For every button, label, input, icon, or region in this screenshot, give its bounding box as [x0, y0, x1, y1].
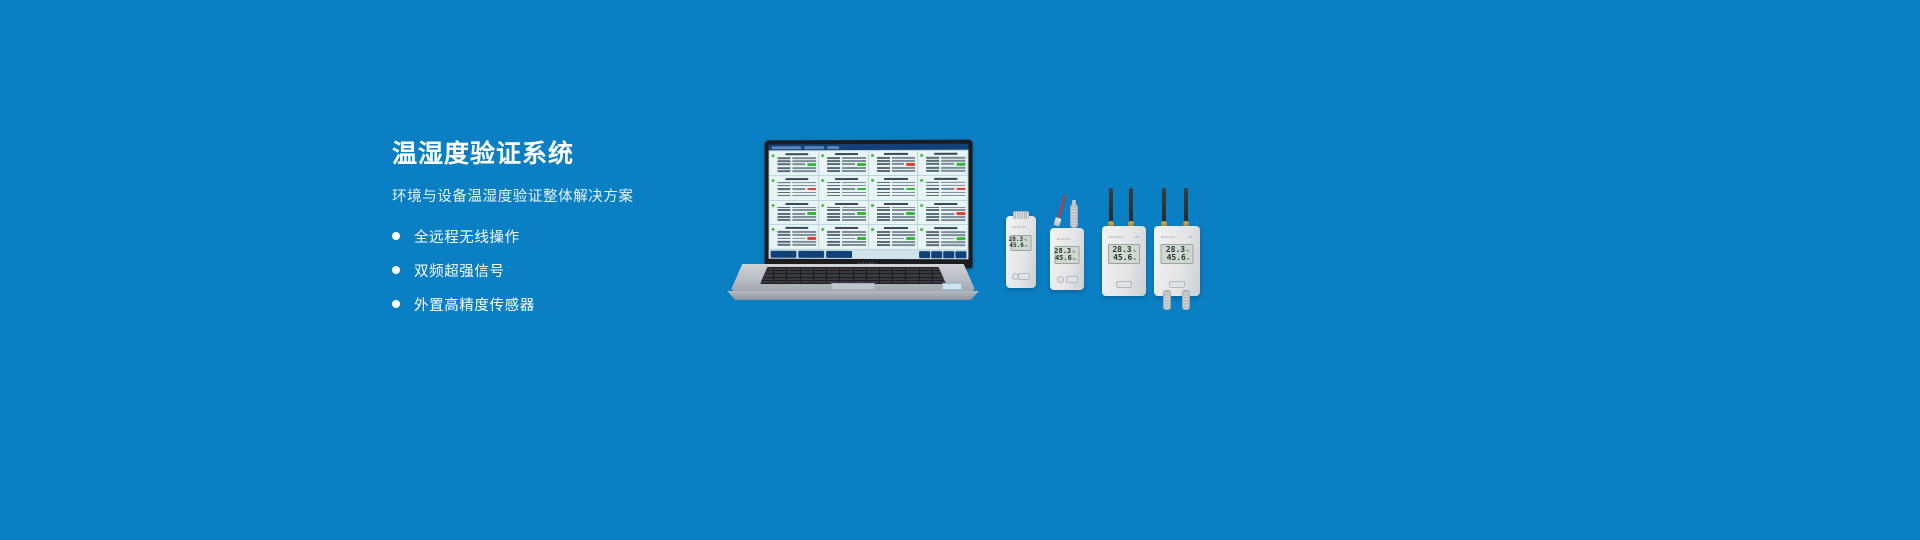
card-title	[884, 202, 907, 204]
lcd-display: 28.3 ℃ 45.6 %	[1161, 244, 1194, 264]
card-row-value	[892, 167, 916, 169]
device-brand-label: ENCOIN	[1109, 235, 1123, 239]
keyboard-key[interactable]	[933, 271, 945, 273]
keyboard-key[interactable]	[933, 268, 945, 270]
sensor-card[interactable]	[819, 201, 868, 225]
card-row-value	[842, 195, 866, 197]
card-row	[926, 160, 965, 162]
keyboard-key[interactable]	[867, 278, 879, 280]
card-row-value	[892, 170, 916, 172]
card-row-label	[926, 210, 939, 212]
card-row-label	[876, 207, 889, 209]
keyboard-key[interactable]	[761, 271, 773, 273]
card-row-value	[892, 216, 916, 218]
card-row-label	[876, 219, 889, 221]
sensor-card[interactable]	[770, 201, 818, 225]
function-button[interactable]	[1169, 281, 1185, 288]
status-badge	[956, 188, 965, 191]
card-row	[778, 231, 816, 233]
page-title: 温湿度验证系统	[392, 140, 722, 169]
card-row	[827, 192, 866, 194]
card-row	[827, 216, 866, 218]
card-row-value	[792, 167, 816, 169]
card-row-label	[778, 238, 791, 240]
antenna-icon	[1129, 188, 1133, 222]
status-badge	[906, 188, 915, 191]
card-row-label	[926, 167, 939, 169]
keyboard-key[interactable]	[906, 271, 918, 273]
status-dot-icon	[920, 179, 923, 182]
card-row-label	[926, 241, 939, 243]
card-title	[785, 203, 808, 205]
status-dot-icon	[821, 228, 824, 231]
list-item: 双频超强信号	[392, 260, 722, 281]
card-row	[876, 244, 915, 246]
card-row-value	[792, 164, 805, 166]
keyboard-key[interactable]	[814, 278, 826, 280]
card-row-label	[926, 157, 939, 159]
status-badge	[857, 212, 866, 215]
card-row-label	[827, 195, 840, 197]
sensor-card[interactable]	[868, 225, 917, 249]
keyboard-key[interactable]	[840, 268, 852, 270]
device-lineup: ENCOIN 28.3 ℃ 45.6 %	[1000, 186, 1220, 306]
handheld-logger-small: ENCOIN 28.3 ℃ 45.6 %	[1006, 216, 1036, 288]
card-row-value	[842, 231, 866, 233]
status-dot-icon	[772, 154, 775, 157]
card-row	[778, 192, 816, 194]
keyboard-key[interactable]	[774, 281, 786, 283]
keyboard-key[interactable]	[906, 268, 918, 270]
card-row	[778, 241, 816, 243]
card-row-label	[876, 216, 889, 218]
keyboard-key[interactable]	[840, 271, 852, 273]
toolbar-button[interactable]	[826, 251, 852, 258]
card-row	[778, 170, 816, 172]
card-row-label	[876, 238, 889, 240]
card-row-label	[926, 207, 939, 209]
card-row-value	[941, 210, 965, 212]
keyboard-key[interactable]	[906, 274, 918, 276]
card-row-label	[827, 216, 840, 218]
card-row	[778, 195, 816, 197]
keyboard-key[interactable]	[787, 278, 799, 280]
keyboard-key[interactable]	[787, 268, 799, 270]
card-row-label	[778, 219, 791, 221]
sensor-card[interactable]	[819, 176, 868, 200]
card-row-label	[778, 213, 791, 215]
card-row	[926, 157, 965, 159]
card-row	[778, 167, 816, 169]
card-row-value	[842, 238, 855, 240]
card-row-value	[842, 219, 866, 221]
card-row-label	[778, 209, 791, 211]
status-badge	[807, 163, 816, 166]
external-sensor-probe	[1182, 290, 1190, 310]
keyboard-key[interactable]	[893, 274, 905, 276]
sensor-card[interactable]	[770, 176, 818, 200]
card-row	[827, 157, 866, 159]
card-row-value	[892, 192, 916, 194]
card-row-value	[941, 213, 954, 215]
keyboard-key[interactable]	[801, 271, 813, 273]
card-row-value	[892, 219, 916, 221]
card-row-label	[778, 160, 791, 162]
card-row-label	[827, 209, 840, 211]
sensor-card[interactable]	[868, 200, 917, 224]
card-row	[778, 206, 816, 208]
card-row-label	[926, 188, 939, 190]
card-row	[876, 182, 915, 184]
sensor-vent-icon	[1013, 211, 1029, 219]
card-row-value	[842, 167, 866, 169]
lcd-display: 28.3 ℃ 45.6 %	[1011, 235, 1032, 251]
keyboard-key[interactable]	[867, 268, 879, 270]
card-row-label	[827, 182, 840, 184]
keyboard-key[interactable]	[854, 274, 866, 276]
keyboard-key[interactable]	[893, 268, 905, 270]
keyboard-key[interactable]	[814, 281, 826, 283]
card-row-value	[941, 244, 965, 246]
sensor-card[interactable]	[918, 225, 967, 249]
card-row	[827, 188, 866, 191]
card-row	[827, 209, 866, 211]
keyboard-key[interactable]	[761, 274, 773, 276]
function-button[interactable]	[1018, 273, 1030, 280]
humidity-readout: 45.6 %	[1167, 254, 1190, 262]
bullet-dot-icon	[392, 266, 400, 274]
keyboard-key[interactable]	[867, 271, 879, 273]
keyboard-key[interactable]	[814, 271, 826, 273]
card-row	[876, 207, 915, 209]
pager-button[interactable]	[919, 251, 930, 258]
cable-jack-icon	[1053, 217, 1061, 226]
card-row-label	[876, 188, 889, 190]
card-row	[926, 163, 965, 166]
card-row	[926, 195, 965, 197]
keyboard-key[interactable]	[893, 281, 905, 283]
keyboard-key[interactable]	[801, 281, 813, 283]
keyboard-key[interactable]	[761, 278, 773, 280]
card-row-value	[941, 185, 965, 187]
keyboard-key[interactable]	[774, 278, 786, 280]
card-row	[926, 188, 965, 191]
keyboard-key[interactable]	[787, 274, 799, 276]
laptop-screen	[769, 144, 969, 260]
card-row-label	[778, 241, 791, 243]
card-row-label	[778, 234, 791, 236]
status-dot-icon	[920, 203, 923, 206]
keyboard-key[interactable]	[774, 274, 786, 276]
card-row-label	[876, 213, 889, 215]
sensor-card[interactable]	[868, 176, 917, 200]
status-dot-icon	[870, 203, 873, 206]
keyboard-key[interactable]	[787, 281, 799, 283]
keyboard-key[interactable]	[880, 274, 892, 276]
card-row-value	[792, 213, 805, 215]
spec-sticker	[942, 283, 962, 290]
card-title	[835, 153, 858, 155]
wireless-logger-right: ENCOIN H8 28.3 ℃ 45.6 %	[1154, 226, 1200, 296]
keyboard-key[interactable]	[880, 281, 892, 283]
card-row	[926, 192, 965, 194]
keyboard-key[interactable]	[880, 268, 892, 270]
card-row	[778, 237, 816, 240]
device-model-label: H8	[1188, 235, 1193, 239]
keyboard-key[interactable]	[814, 268, 826, 270]
card-row	[876, 167, 915, 169]
card-row	[876, 219, 915, 221]
status-badge	[906, 212, 915, 215]
keyboard-key[interactable]	[920, 278, 932, 280]
wireless-logger-right-group: ENCOIN H8 28.3 ℃ 45.6 %	[1154, 186, 1206, 310]
card-row-value	[892, 231, 916, 233]
card-row-value	[892, 207, 916, 209]
external-sensor-probe	[1070, 204, 1078, 228]
feature-list: 全远程无线操作 双频超强信号 外置高精度传感器	[392, 226, 722, 315]
keyboard-key[interactable]	[814, 274, 826, 276]
card-row-value	[792, 219, 816, 221]
laptop-deck	[730, 264, 976, 292]
card-row-value	[941, 167, 965, 169]
card-row	[876, 209, 915, 211]
keyboard-key[interactable]	[880, 271, 892, 273]
card-row-value	[892, 182, 916, 184]
card-row	[827, 231, 866, 233]
feature-label: 外置高精度传感器	[414, 294, 535, 315]
card-row-label	[926, 234, 939, 236]
keyboard-key[interactable]	[906, 278, 918, 280]
power-button[interactable]	[1057, 276, 1064, 283]
card-row-label	[778, 188, 791, 190]
card-row-label	[926, 216, 939, 218]
status-badge	[807, 212, 816, 215]
status-dot-icon	[772, 228, 775, 231]
card-row	[926, 219, 965, 221]
sensor-card[interactable]	[770, 225, 818, 249]
card-row	[876, 163, 915, 166]
keyboard-row	[761, 271, 945, 273]
lcd-display: 28.3 ℃ 45.6 %	[1055, 246, 1080, 264]
keyboard-key[interactable]	[933, 278, 945, 280]
card-row-value	[941, 234, 965, 236]
card-row-label	[876, 234, 889, 236]
status-dot-icon	[870, 154, 873, 157]
title-bar-text-glyph	[804, 146, 824, 149]
function-button[interactable]	[1116, 281, 1132, 288]
keyboard-key[interactable]	[906, 281, 918, 283]
card-row-label	[876, 182, 889, 184]
card-row-value	[792, 195, 816, 197]
card-row-label	[876, 231, 889, 233]
card-row	[778, 157, 816, 159]
card-row	[876, 237, 915, 240]
sensor-card[interactable]	[918, 176, 967, 200]
sensor-card[interactable]	[918, 151, 967, 175]
card-row-label	[926, 163, 939, 165]
keyboard-key[interactable]	[827, 278, 839, 280]
card-row-value	[941, 241, 965, 243]
card-row-value	[892, 185, 916, 187]
keyboard-key[interactable]	[854, 268, 866, 270]
keyboard-key[interactable]	[880, 278, 892, 280]
card-row	[778, 219, 816, 221]
sensor-card[interactable]	[819, 225, 868, 249]
card-row-value	[941, 157, 965, 159]
device-brand-label: ENCOIN	[1013, 225, 1027, 229]
card-row	[876, 231, 915, 233]
card-row-label	[926, 195, 939, 197]
card-row	[876, 160, 915, 162]
toolbar-button[interactable]	[771, 251, 797, 258]
card-row-label	[876, 244, 889, 246]
card-row-value	[842, 209, 866, 211]
keyboard-key[interactable]	[761, 268, 773, 270]
toolbar-button[interactable]	[798, 251, 824, 258]
card-title	[785, 178, 808, 180]
card-title	[884, 178, 907, 180]
card-row-value	[792, 157, 816, 159]
laptop-base	[722, 262, 984, 300]
card-row-value	[892, 157, 916, 159]
hero-banner: 温湿度验证系统 环境与设备温湿度验证整体解决方案 全远程无线操作 双频超强信号 …	[0, 0, 1920, 540]
card-row	[876, 185, 915, 187]
card-row-label	[827, 170, 840, 172]
sensor-card[interactable]	[770, 151, 818, 175]
keyboard-key[interactable]	[920, 274, 932, 276]
keyboard-key[interactable]	[827, 268, 839, 270]
keyboard-key[interactable]	[933, 274, 945, 276]
card-row-value	[792, 185, 816, 187]
keyboard-key[interactable]	[761, 281, 773, 283]
keyboard-key[interactable]	[801, 268, 813, 270]
status-dot-icon	[821, 179, 824, 182]
card-row	[827, 185, 866, 187]
pager-button[interactable]	[931, 251, 942, 258]
keyboard-key[interactable]	[854, 271, 866, 273]
keyboard-key[interactable]	[840, 278, 852, 280]
card-row-label	[827, 167, 840, 169]
card-row-value	[842, 244, 866, 246]
external-sensor-probe	[1163, 290, 1171, 310]
card-row	[926, 237, 965, 240]
wireless-logger-left: ENCOIN H8 28.3 ℃ 45.6 %	[1102, 226, 1146, 296]
card-row	[926, 210, 965, 212]
sensor-card[interactable]	[819, 151, 868, 175]
list-item: 外置高精度传感器	[392, 294, 722, 315]
card-row-label	[827, 188, 840, 190]
laptop-illustration: HUAWEI	[722, 140, 984, 300]
status-dot-icon	[821, 154, 824, 157]
card-row	[926, 234, 965, 236]
status-badge	[857, 237, 866, 240]
card-row-value	[792, 238, 805, 240]
keyboard-key[interactable]	[827, 274, 839, 276]
card-title	[835, 203, 858, 205]
card-row-value	[842, 157, 866, 159]
keyboard-key[interactable]	[867, 274, 879, 276]
keyboard-key[interactable]	[893, 271, 905, 273]
status-badge	[956, 237, 965, 240]
card-row-label	[926, 219, 939, 221]
trackpad[interactable]	[831, 283, 875, 290]
card-row-label	[778, 182, 791, 184]
status-badge	[807, 237, 816, 240]
card-row-label	[926, 170, 939, 172]
card-row-label	[827, 206, 840, 208]
card-row-value	[792, 188, 805, 190]
card-title	[835, 227, 858, 229]
card-row-label	[778, 164, 791, 166]
card-row	[827, 244, 866, 246]
keyboard-key[interactable]	[920, 268, 932, 270]
keyboard-key[interactable]	[787, 271, 799, 273]
card-row-label	[876, 209, 889, 211]
card-row	[876, 216, 915, 218]
pager-button[interactable]	[955, 251, 966, 258]
card-row-value	[941, 163, 954, 165]
pager-button[interactable]	[943, 251, 954, 258]
card-row-value	[892, 163, 905, 165]
keyboard-key[interactable]	[801, 274, 813, 276]
card-row-label	[876, 160, 889, 162]
card-row-value	[842, 216, 866, 218]
card-row-value	[792, 192, 816, 194]
card-row-value	[842, 213, 855, 215]
card-row-value	[941, 160, 965, 162]
card-row-label	[926, 185, 939, 187]
card-row-label	[778, 216, 791, 218]
card-row-value	[792, 231, 816, 233]
keyboard-key[interactable]	[774, 268, 786, 270]
sensor-card[interactable]	[868, 151, 917, 175]
keyboard-key[interactable]	[920, 281, 932, 283]
card-row-value	[792, 244, 816, 246]
card-row	[827, 163, 866, 166]
card-row	[827, 206, 866, 208]
card-row-value	[842, 160, 866, 162]
probe-cable	[1057, 195, 1066, 221]
bullet-dot-icon	[392, 232, 400, 240]
card-row-value	[941, 231, 965, 233]
keyboard[interactable]	[760, 267, 946, 284]
card-row-value	[792, 170, 816, 172]
function-button[interactable]	[1066, 276, 1078, 283]
status-badge	[807, 188, 816, 191]
keyboard-key[interactable]	[893, 278, 905, 280]
status-dot-icon	[821, 204, 824, 207]
card-row	[778, 209, 816, 211]
keyboard-key[interactable]	[840, 274, 852, 276]
sensor-card[interactable]	[918, 200, 967, 224]
keyboard-key[interactable]	[774, 271, 786, 273]
card-row-label	[926, 192, 939, 194]
card-row-label	[827, 164, 840, 166]
card-row-label	[876, 192, 889, 194]
card-row	[876, 170, 915, 172]
keyboard-key[interactable]	[920, 271, 932, 273]
status-dot-icon	[870, 179, 873, 182]
card-row-value	[842, 182, 866, 184]
keyboard-key[interactable]	[827, 271, 839, 273]
card-row	[778, 188, 816, 191]
card-row	[926, 182, 965, 184]
card-row-value	[792, 209, 816, 211]
card-row	[827, 219, 866, 221]
keyboard-row	[761, 268, 945, 270]
keyboard-key[interactable]	[854, 278, 866, 280]
keyboard-key[interactable]	[801, 278, 813, 280]
